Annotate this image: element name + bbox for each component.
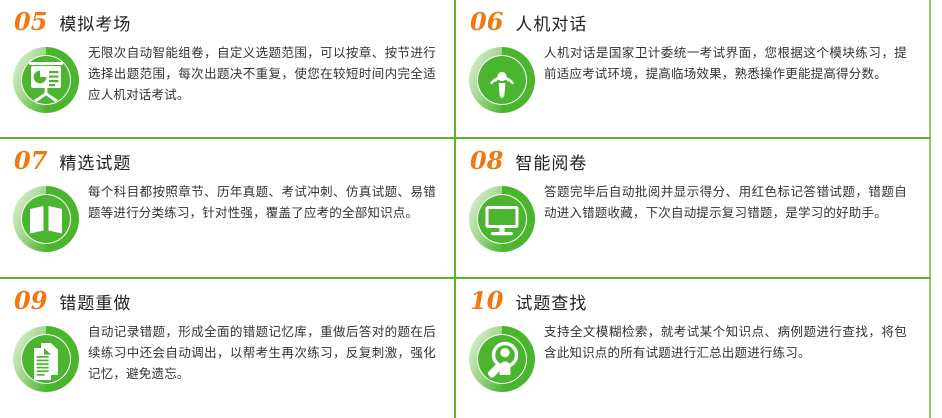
card-description: 人机对话是国家卫计委统一考试界面，您根据这个模块练习，提前适应考试环境，提高临场… (544, 42, 931, 84)
feature-card[interactable]: 08 智能阅卷 (456, 139, 931, 279)
card-body: 自动记录错题，形成全面的错题记忆库，重做后答对的题在后续练习中还会自动调出，以帮… (0, 319, 454, 395)
card-title: 智能阅卷 (515, 154, 587, 174)
feature-card[interactable]: 07 精选试题 (0, 139, 456, 279)
card-title: 试题查找 (515, 294, 587, 314)
card-number: 07 (14, 149, 47, 173)
feature-card-grid: 05 模拟考场 (0, 0, 931, 418)
card-description: 每个科目都按照章节、历年真题、考试冲刺、仿真试题、易错题等进行分类练习，针对性强… (88, 181, 454, 223)
card-body: 支持全文模糊检索，就考试某个知识点、病例题进行查找，将包含此知识点的所有试题进行… (456, 319, 931, 395)
card-title: 精选试题 (59, 154, 131, 174)
feature-card[interactable]: 05 模拟考场 (0, 0, 456, 139)
feature-card[interactable]: 09 错题重做 (0, 279, 456, 418)
card-body: 每个科目都按照章节、历年真题、考试冲刺、仿真试题、易错题等进行分类练习，针对性强… (0, 179, 454, 255)
card-description: 自动记录错题，形成全面的错题记忆库，重做后答对的题在后续练习中还会自动调出，以帮… (88, 321, 454, 384)
podcast-broadcast-icon (466, 44, 538, 116)
presentation-board-icon (10, 44, 82, 116)
card-body: 答题完毕后自动批阅并显示得分、用红色标记答错试题，错题自动进入错题收藏，下次自动… (456, 179, 931, 255)
card-header: 10 试题查找 (456, 279, 931, 319)
feature-card[interactable]: 06 人机对话 (456, 0, 931, 139)
monitor-icon (466, 183, 538, 255)
card-body: 人机对话是国家卫计委统一考试界面，您根据这个模块练习，提前适应考试环境，提高临场… (456, 40, 931, 116)
card-number: 09 (14, 289, 47, 313)
open-book-icon (10, 183, 82, 255)
card-header: 06 人机对话 (456, 0, 931, 40)
card-header: 07 精选试题 (0, 139, 454, 179)
card-number: 05 (14, 10, 47, 34)
card-title: 人机对话 (515, 15, 587, 35)
card-description: 支持全文模糊检索，就考试某个知识点、病例题进行查找，将包含此知识点的所有试题进行… (544, 321, 931, 363)
card-number: 10 (470, 289, 503, 313)
card-title: 错题重做 (59, 294, 131, 314)
card-description: 无限次自动智能组卷，自定义选题范围，可以按章、按节进行选择出题范围，每次出题决不… (88, 42, 454, 105)
card-header: 08 智能阅卷 (456, 139, 931, 179)
card-header: 05 模拟考场 (0, 0, 454, 40)
search-person-icon (466, 323, 538, 395)
card-title: 模拟考场 (59, 15, 131, 35)
card-description: 答题完毕后自动批阅并显示得分、用红色标记答错试题，错题自动进入错题收藏，下次自动… (544, 181, 931, 223)
feature-grid-page: 05 模拟考场 (0, 0, 942, 418)
card-body: 无限次自动智能组卷，自定义选题范围，可以按章、按节进行选择出题范围，每次出题决不… (0, 40, 454, 116)
feature-card[interactable]: 10 试题查找 (456, 279, 931, 418)
card-header: 09 错题重做 (0, 279, 454, 319)
card-number: 06 (470, 10, 503, 34)
card-number: 08 (470, 149, 503, 173)
documents-icon (10, 323, 82, 395)
